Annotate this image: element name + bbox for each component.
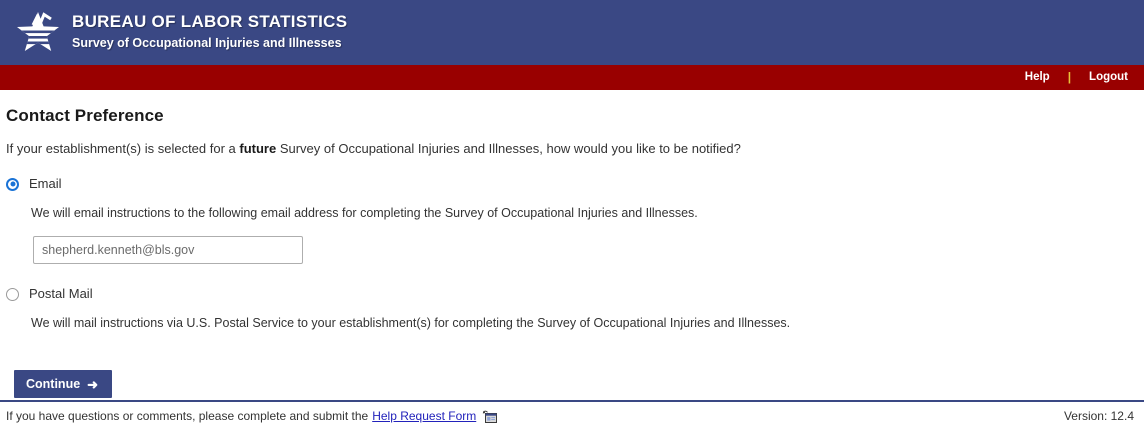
footer-help-text: If you have questions or comments, pleas… [6, 409, 497, 423]
continue-button-label: Continue [26, 377, 80, 391]
brand-block: BUREAU OF LABOR STATISTICS Survey of Occ… [72, 12, 347, 54]
radio-button-email[interactable] [6, 178, 19, 191]
option-block-postal-mail: Postal Mail We will mail instructions vi… [6, 286, 1144, 332]
arrow-right-icon: ➜ [87, 378, 98, 391]
page-footer: If you have questions or comments, pleas… [0, 400, 1144, 425]
question-suffix: Survey of Occupational Injuries and Illn… [276, 141, 741, 156]
top-nav-bar: Help | Logout [0, 65, 1144, 90]
radio-option-email[interactable]: Email [6, 176, 62, 192]
page-title: Contact Preference [6, 106, 1144, 126]
bls-star-chart-logo [14, 9, 62, 57]
question-prefix: If your establishment(s) is selected for… [6, 141, 239, 156]
nav-logout-link[interactable]: Logout [1089, 65, 1128, 90]
site-title: BUREAU OF LABOR STATISTICS [72, 12, 347, 32]
help-request-form-link[interactable]: Help Request Form [372, 409, 476, 423]
option-block-email: Email We will email instructions to the … [6, 176, 1144, 264]
question-emphasis: future [239, 141, 276, 156]
version-label: Version: 12.4 [1064, 409, 1138, 423]
external-window-icon[interactable] [479, 410, 497, 424]
nav-separator: | [1068, 65, 1071, 90]
nav-help-link[interactable]: Help [1025, 65, 1050, 90]
radio-option-postal-mail[interactable]: Postal Mail [6, 286, 93, 302]
email-option-description: We will email instructions to the follow… [31, 204, 1144, 222]
site-header: BUREAU OF LABOR STATISTICS Survey of Occ… [0, 0, 1144, 65]
radio-button-postal-mail[interactable] [6, 288, 19, 301]
footer-text-label: If you have questions or comments, pleas… [6, 409, 368, 423]
postal-mail-option-description: We will mail instructions via U.S. Posta… [31, 314, 1144, 332]
email-address-input[interactable] [33, 236, 303, 264]
continue-button[interactable]: Continue ➜ [14, 370, 112, 398]
main-content: Contact Preference If your establishment… [0, 90, 1144, 398]
contact-preference-question: If your establishment(s) is selected for… [6, 140, 1144, 158]
site-subtitle: Survey of Occupational Injuries and Illn… [72, 35, 347, 52]
radio-label-postal-mail: Postal Mail [29, 286, 93, 302]
radio-label-email: Email [29, 176, 62, 192]
